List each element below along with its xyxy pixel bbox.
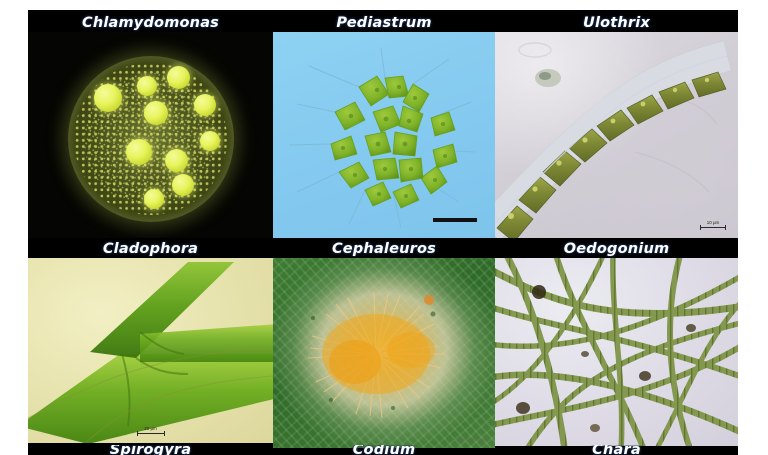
cephaleuros-colony — [273, 258, 495, 448]
cut-off-label-3: Chara — [495, 445, 738, 455]
panel-grid: Chlamydomonas — [28, 10, 738, 455]
daughter-colony — [194, 94, 216, 116]
micrograph-oedogonium — [495, 258, 738, 446]
ulothrix-filament — [495, 32, 738, 238]
daughter-colony — [200, 131, 220, 151]
micrograph-chlamydomonas — [28, 32, 273, 238]
volvox-colony — [68, 56, 234, 222]
panel-label-ulothrix: Ulothrix — [495, 14, 738, 32]
daughter-colony — [167, 66, 190, 89]
panel-label-oedogonium: Oedogonium — [495, 240, 738, 258]
cut-off-caption-row: Spirogyra Codium Chara — [28, 445, 738, 455]
photo-credit-cephaleuros: Photo by Phil Bartle — [454, 437, 489, 442]
micrograph-cladophora: 20 µm — [28, 258, 273, 443]
panel-cladophora[interactable]: Cladophora — [28, 238, 273, 455]
scale-bar-label-cladophora: 20 µm — [137, 426, 165, 431]
daughter-colony — [172, 174, 194, 196]
micrograph-pediastrum — [273, 32, 495, 238]
scale-bar-label-ulothrix: 10 µm — [700, 220, 726, 225]
figure-root: Chlamydomonas — [0, 0, 768, 455]
daughter-colony — [126, 139, 152, 165]
panel-ulothrix[interactable]: Ulothrix — [495, 10, 738, 238]
panel-cephaleuros[interactable]: Cephaleuros — [273, 238, 495, 455]
pediastrum-coenobium — [273, 32, 495, 238]
daughter-colony — [144, 101, 168, 125]
panel-label-chlamydomonas: Chlamydomonas — [28, 14, 273, 32]
cladophora-filament — [28, 258, 273, 443]
cut-off-label-2: Codium — [273, 445, 495, 455]
scale-bar-pediastrum — [433, 218, 477, 222]
panel-label-cladophora: Cladophora — [28, 240, 273, 258]
micrograph-ulothrix: 10 µm — [495, 32, 738, 238]
darkfield-background — [28, 32, 273, 238]
slide-panel: Chlamydomonas — [28, 10, 738, 455]
micrograph-cephaleuros: Photo by Phil Bartle — [273, 258, 495, 448]
panel-label-pediastrum: Pediastrum — [273, 14, 495, 32]
daughter-colony — [144, 189, 164, 209]
scale-bar-cladophora — [137, 433, 165, 434]
panel-label-cephaleuros: Cephaleuros — [273, 240, 495, 258]
panel-chlamydomonas[interactable]: Chlamydomonas — [28, 10, 273, 238]
oedogonium-filaments — [495, 258, 738, 446]
panel-pediastrum[interactable]: Pediastrum — [273, 10, 495, 238]
panel-oedogonium[interactable]: Oedogonium — [495, 238, 738, 455]
scale-bar-ulothrix — [700, 227, 726, 228]
cut-off-label-1: Spirogyra — [28, 445, 273, 455]
